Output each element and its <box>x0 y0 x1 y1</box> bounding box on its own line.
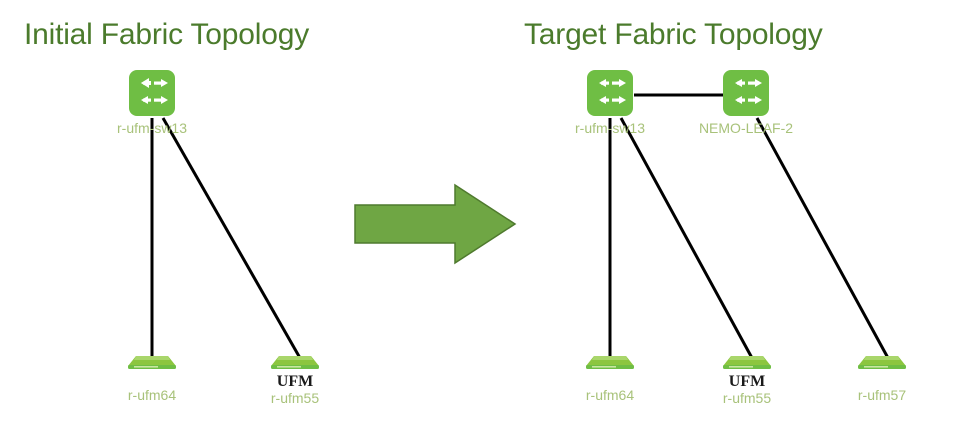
network-switch-icon <box>129 70 175 120</box>
initial-panel-links <box>152 118 300 358</box>
server-host-icon <box>126 352 178 372</box>
node-target-host-r-ufm64[interactable]: r-ufm64 <box>584 352 636 403</box>
server-host-icon <box>721 352 773 372</box>
host-label: r-ufm55 <box>723 391 771 406</box>
network-switch-icon <box>723 70 769 120</box>
node-target-switch-nemo-leaf-2[interactable]: NEMO-LEAF-2 <box>723 70 769 136</box>
switch-label: r-ufm-sw13 <box>575 121 645 136</box>
server-host-icon <box>856 352 908 372</box>
ufm-badge: UFM <box>277 374 313 390</box>
host-label: r-ufm64 <box>128 388 176 403</box>
target-topology-title: Target Fabric Topology <box>524 18 823 52</box>
initial-topology-title: Initial Fabric Topology <box>24 18 309 52</box>
server-host-icon <box>584 352 636 372</box>
host-label: r-ufm57 <box>858 388 906 403</box>
server-host-icon <box>269 352 321 372</box>
topology-comparison-figure: Initial Fabric Topology Target Fabric To… <box>0 0 971 437</box>
node-initial-host-r-ufm55[interactable]: UFM r-ufm55 <box>269 352 321 406</box>
host-label: r-ufm55 <box>271 391 319 406</box>
link-nemo-leaf-2-to-ufm57 <box>757 118 888 358</box>
transition-arrow-group <box>355 185 515 263</box>
link-sw13-to-ufm55 <box>621 118 752 358</box>
network-switch-icon <box>587 70 633 120</box>
node-target-switch-r-ufm-sw13[interactable]: r-ufm-sw13 <box>587 70 633 136</box>
link-sw13-to-ufm55 <box>163 118 300 358</box>
node-target-host-r-ufm57[interactable]: r-ufm57 <box>856 352 908 403</box>
right-arrow-shape <box>355 185 515 263</box>
host-label: r-ufm64 <box>586 388 634 403</box>
node-initial-host-r-ufm64[interactable]: r-ufm64 <box>126 352 178 403</box>
switch-label: r-ufm-sw13 <box>117 121 187 136</box>
node-target-host-r-ufm55[interactable]: UFM r-ufm55 <box>721 352 773 406</box>
node-initial-switch-r-ufm-sw13[interactable]: r-ufm-sw13 <box>129 70 175 136</box>
ufm-badge: UFM <box>729 374 765 390</box>
switch-label: NEMO-LEAF-2 <box>699 121 793 136</box>
